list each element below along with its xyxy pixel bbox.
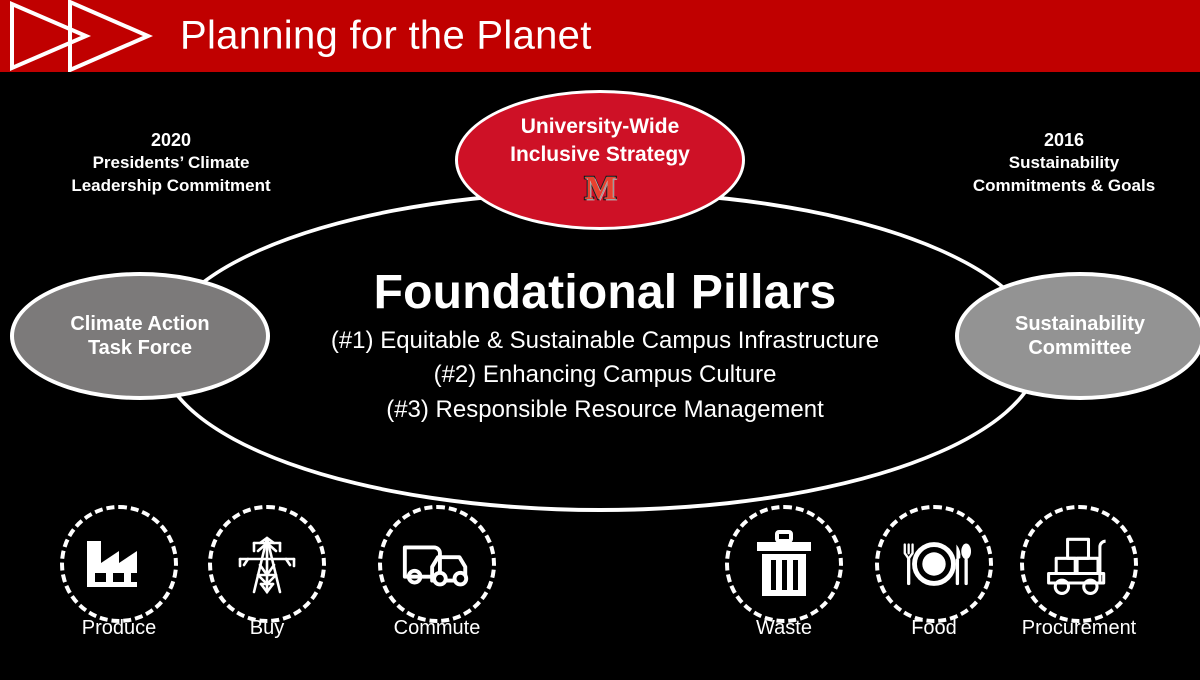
- foundational-pillars-title: Foundational Pillars: [240, 268, 970, 318]
- plate-cutlery-icon: [896, 526, 972, 602]
- badge-procurement[interactable]: Procurement: [1020, 505, 1138, 623]
- badge-waste-label: Waste: [756, 617, 812, 640]
- caption-left-year: 2020: [40, 128, 302, 152]
- center-content: Foundational Pillars (#1) Equitable & Su…: [240, 268, 970, 427]
- caption-right-line2: Commitments & Goals: [973, 176, 1155, 195]
- node-climate-action-task-force[interactable]: Climate Action Task Force: [10, 272, 270, 400]
- badge-produce-label: Produce: [82, 617, 157, 640]
- node-right-line1: Sustainability: [1015, 312, 1145, 336]
- badge-commute[interactable]: Commute: [378, 505, 496, 623]
- trash-can-icon: [746, 526, 822, 602]
- node-top-line1: University-Wide: [521, 114, 680, 142]
- badge-buy[interactable]: Buy: [208, 505, 326, 623]
- badge-buy-label: Buy: [250, 617, 284, 640]
- miami-university-m-logo: M: [584, 172, 615, 206]
- node-left-line2: Task Force: [70, 336, 209, 360]
- pillar-item-3: (#3) Responsible Resource Management: [240, 393, 970, 427]
- caption-right-year: 2016: [930, 128, 1198, 152]
- power-tower-icon: [229, 526, 305, 602]
- badge-food-label: Food: [911, 617, 957, 640]
- badge-commute-label: Commute: [394, 617, 481, 640]
- caption-right-line1: Sustainability: [1009, 153, 1120, 172]
- node-sustainability-committee[interactable]: Sustainability Committee: [955, 272, 1200, 400]
- badge-produce[interactable]: Produce: [60, 505, 178, 623]
- caption-left-line1: Presidents’ Climate: [93, 153, 250, 172]
- caption-left: 2020 Presidents’ Climate Leadership Comm…: [40, 128, 302, 198]
- badge-food[interactable]: Food: [875, 505, 993, 623]
- double-triangle-arrow-icon: [8, 0, 168, 72]
- badge-procurement-label: Procurement: [1022, 617, 1137, 640]
- node-top-line2: Inclusive Strategy: [510, 142, 690, 170]
- slide-canvas: Planning for the Planet 2020 Presidents’…: [0, 0, 1200, 680]
- node-right-line2: Committee: [1015, 336, 1145, 360]
- hand-truck-boxes-icon: [1041, 526, 1117, 602]
- pillar-item-1: (#1) Equitable & Sustainable Campus Infr…: [240, 324, 970, 358]
- pillar-item-2: (#2) Enhancing Campus Culture: [240, 358, 970, 392]
- factory-icon: [81, 526, 157, 602]
- bus-and-car-icon: [399, 526, 475, 602]
- page-title: Planning for the Planet: [180, 14, 592, 59]
- caption-right: 2016 Sustainability Commitments & Goals: [930, 128, 1198, 198]
- node-university-wide-inclusive-strategy[interactable]: University-Wide Inclusive Strategy M: [455, 90, 745, 230]
- badge-waste[interactable]: Waste: [725, 505, 843, 623]
- slide-header: Planning for the Planet: [0, 0, 1200, 72]
- caption-left-line2: Leadership Commitment: [71, 176, 270, 195]
- node-left-line1: Climate Action: [70, 312, 209, 336]
